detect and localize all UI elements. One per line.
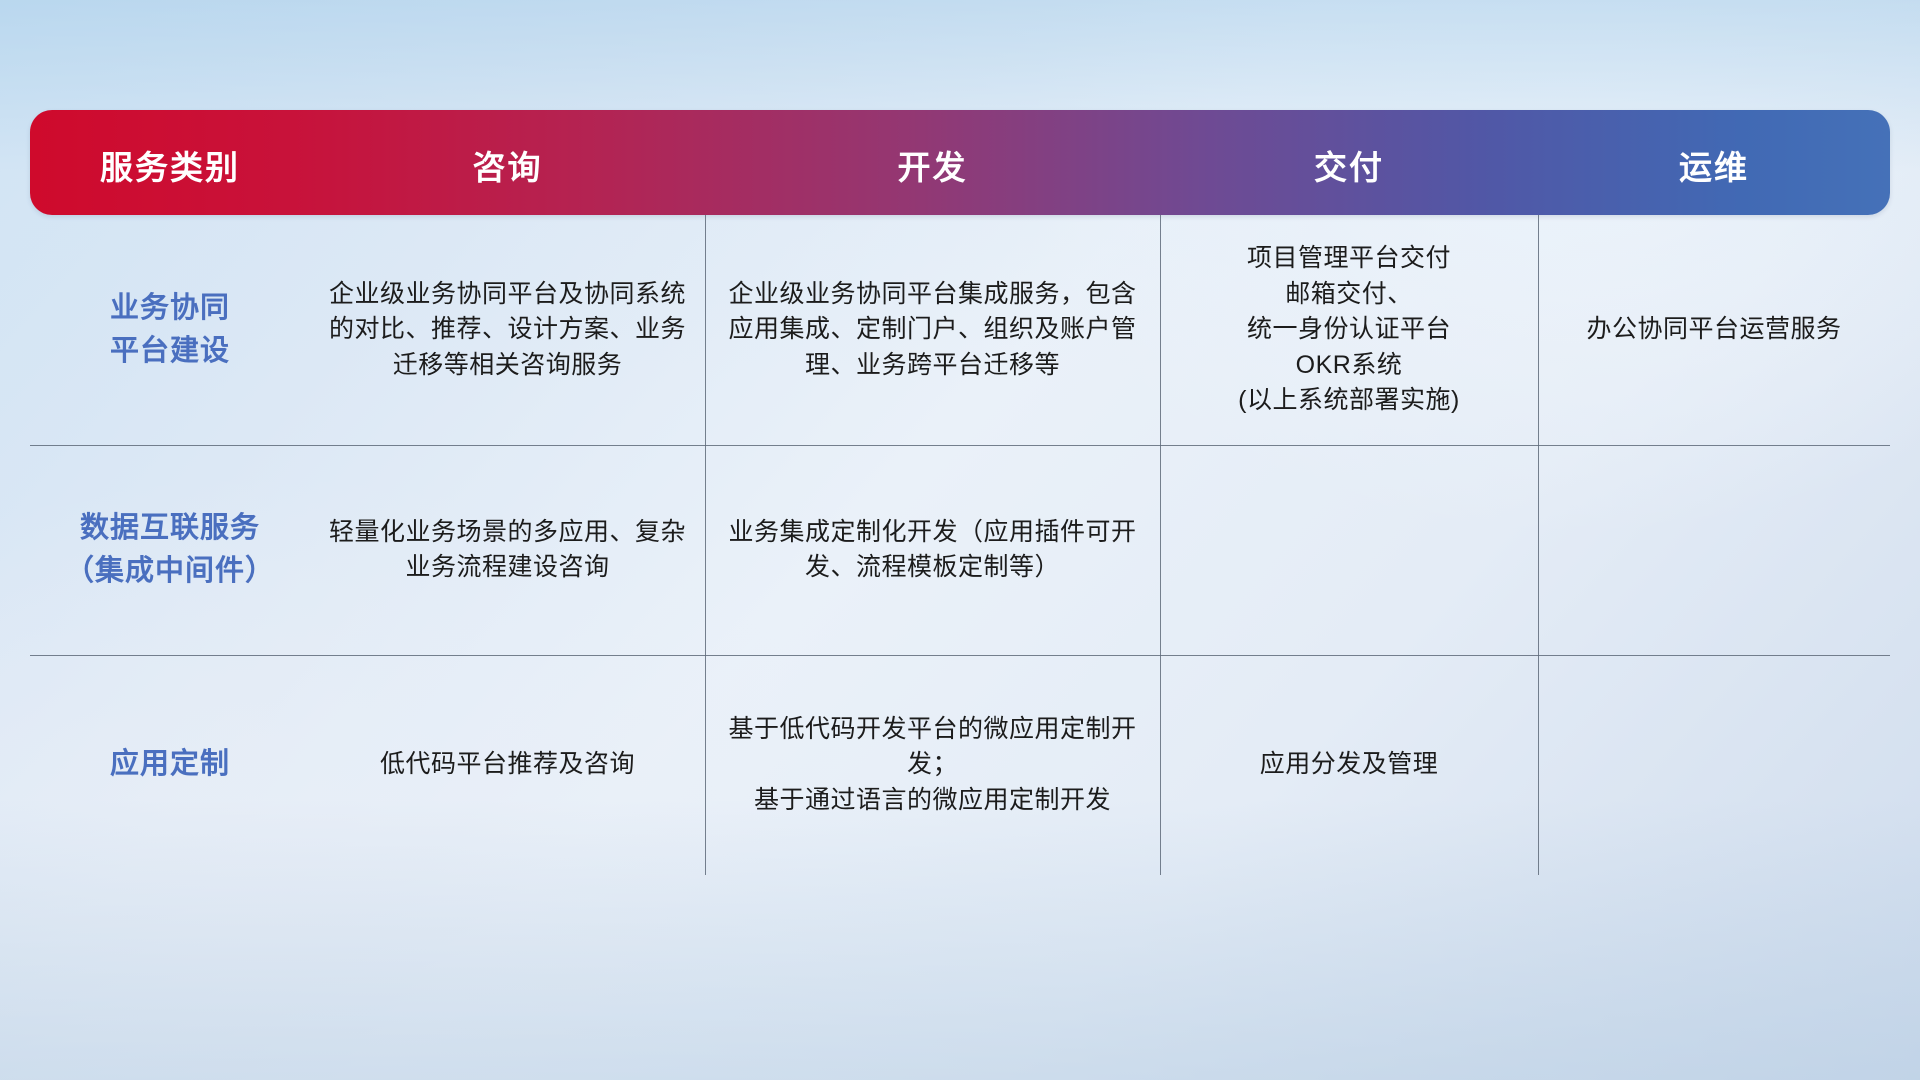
table-row: 业务协同 平台建设 企业级业务协同平台及协同系统的对比、推荐、设计方案、业务迁移… [30,215,1890,445]
row-label-business-collaboration: 业务协同 平台建设 [30,215,310,445]
column-header-operations: 运维 [1538,110,1890,215]
column-header-delivery: 交付 [1160,110,1538,215]
cell-consulting-r3: 低代码平台推荐及咨询 [310,655,705,875]
table-row: 应用定制 低代码平台推荐及咨询 基于低代码开发平台的微应用定制开发； 基于通过语… [30,655,1890,875]
cell-operations-r1: 办公协同平台运营服务 [1538,215,1890,445]
cell-development-r3: 基于低代码开发平台的微应用定制开发； 基于通过语言的微应用定制开发 [705,655,1160,875]
table-row: 数据互联服务 （集成中间件） 轻量化业务场景的多应用、复杂业务流程建设咨询 业务… [30,445,1890,655]
table-body: 业务协同 平台建设 企业级业务协同平台及协同系统的对比、推荐、设计方案、业务迁移… [30,215,1890,875]
cell-development-r1: 企业级业务协同平台集成服务，包含应用集成、定制门户、组织及账户管理、业务跨平台迁… [705,215,1160,445]
table-header-row: 服务类别 咨询 开发 交付 运维 [30,110,1890,215]
column-header-consulting: 咨询 [310,110,705,215]
cell-delivery-r3: 应用分发及管理 [1160,655,1538,875]
cell-delivery-r1: 项目管理平台交付 邮箱交付、 统一身份认证平台 OKR系统 (以上系统部署实施) [1160,215,1538,445]
cell-development-r2: 业务集成定制化开发（应用插件可开发、流程模板定制等） [705,445,1160,655]
column-header-development: 开发 [705,110,1160,215]
cell-delivery-r2 [1160,445,1538,655]
column-header-category: 服务类别 [30,110,310,215]
service-matrix-table: 服务类别 咨询 开发 交付 运维 业务协同 平台建设 企业级业务协同平台及协同系… [30,110,1890,875]
row-label-data-integration: 数据互联服务 （集成中间件） [30,445,310,655]
cell-operations-r3 [1538,655,1890,875]
cell-consulting-r2: 轻量化业务场景的多应用、复杂业务流程建设咨询 [310,445,705,655]
cell-consulting-r1: 企业级业务协同平台及协同系统的对比、推荐、设计方案、业务迁移等相关咨询服务 [310,215,705,445]
cell-operations-r2 [1538,445,1890,655]
row-label-app-customization: 应用定制 [30,655,310,875]
